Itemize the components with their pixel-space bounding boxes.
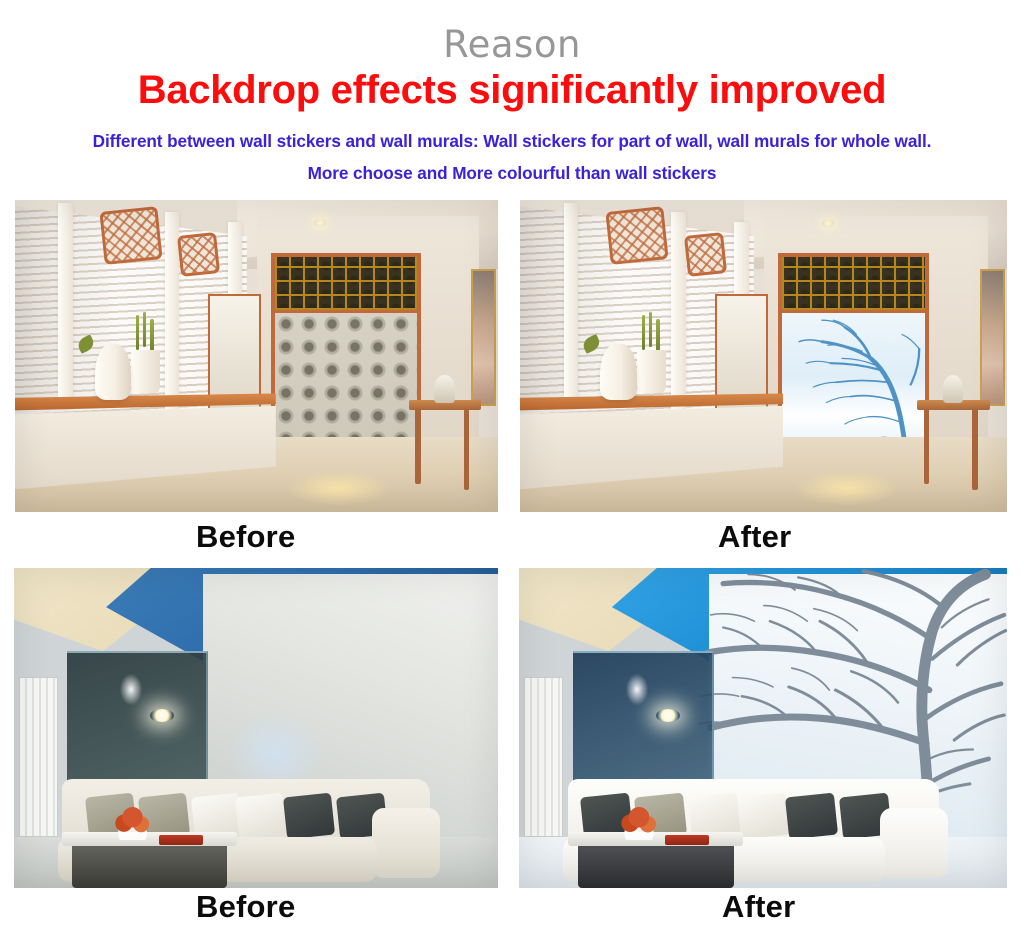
caption-after-hallway: After	[718, 521, 791, 552]
lattice-ornament-small-icon	[684, 232, 727, 276]
hallway-after-photo	[520, 200, 1007, 512]
living-room-before-photo	[14, 568, 498, 888]
caption-before-hallway: Before	[196, 521, 295, 552]
lattice-ornament-icon	[605, 206, 669, 265]
caption-after-living-room: After	[722, 891, 795, 922]
subtitle-line-2: More choose and More colourful than wall…	[0, 163, 1024, 184]
promo-page: Reason Backdrop effects significantly im…	[0, 0, 1024, 944]
eyebrow-heading: Reason	[0, 26, 1024, 63]
page-title: Backdrop effects significantly improved	[0, 68, 1024, 113]
caption-before-living-room: Before	[196, 891, 295, 922]
subtitle-line-1: Different between wall stickers and wall…	[0, 131, 1024, 152]
lattice-ornament-small-icon	[177, 232, 220, 276]
living-room-after-photo	[519, 568, 1007, 888]
lattice-ornament-icon	[99, 206, 162, 265]
hallway-before-photo	[15, 200, 498, 512]
